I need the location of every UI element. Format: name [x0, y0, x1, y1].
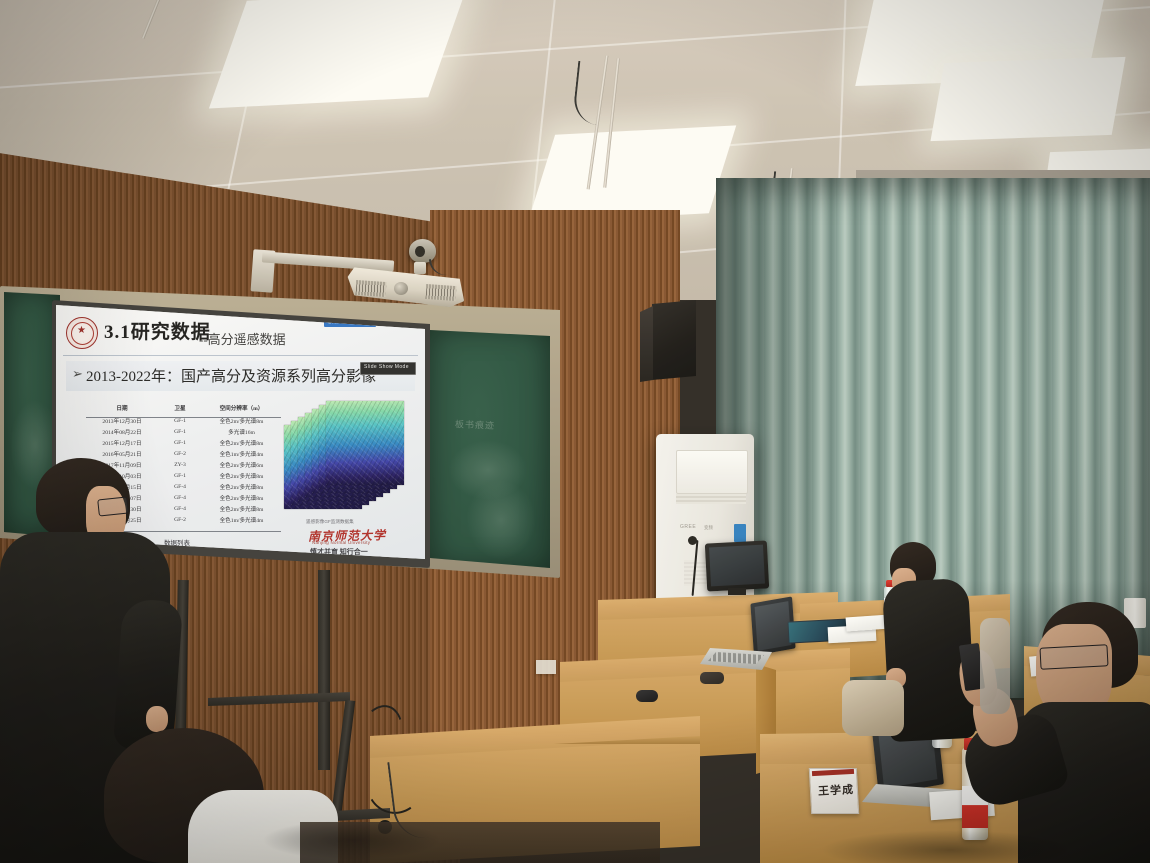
- table-row: 2014年08月22日 GF-1 多光谱16m: [86, 426, 281, 437]
- table-cell-resolution: 多光谱16m: [202, 426, 281, 437]
- attendee-right-glasses: [1039, 644, 1108, 670]
- table-cell-satellite: GF-2: [158, 514, 202, 525]
- cube-layer-front: [326, 401, 404, 485]
- table-cell-satellite: GF-4: [158, 481, 202, 492]
- table-cell-resolution: 全色2m/多光谱8m: [202, 415, 281, 426]
- projector-lens-icon: [394, 282, 408, 295]
- slide-header-rule: [63, 355, 417, 356]
- table-row: 2017年11月09日 ZY-3 全色2m/多光谱6m: [86, 459, 281, 470]
- slideshow-mode-badge-label: Slide Show Mode: [364, 364, 409, 370]
- table-header-cell: 日期: [86, 401, 158, 415]
- table-cell-satellite: GF-1: [158, 437, 202, 448]
- presenter-hand: [146, 706, 168, 732]
- table-cell-resolution: 全色2m/多光谱8m: [202, 492, 281, 503]
- university-seal-icon: ★: [66, 317, 98, 349]
- data-cube-figure: [284, 397, 404, 515]
- headphones-center: [700, 672, 724, 684]
- table-cell-date: 2015年12月17日: [86, 437, 158, 448]
- table-cell-resolution: 全色2m/多光谱8m: [202, 437, 281, 448]
- mouse-device[interactable]: [636, 690, 658, 702]
- slide-bullet-marker: ➢: [72, 366, 83, 382]
- camera-lens-icon: [415, 246, 425, 257]
- table-cell-satellite: GF-4: [158, 492, 202, 503]
- ceiling-light-4: [930, 57, 1125, 141]
- table-row: 2013年12月30日 GF-1 全色2m/多光谱8m: [86, 415, 281, 426]
- table-cell-date: 2014年08月22日: [86, 426, 158, 437]
- table-cell-resolution: 全色2m/多光谱8m: [202, 470, 281, 481]
- table-cell-satellite: GF-1: [158, 415, 202, 426]
- light-rod-head-1: [148, 28, 160, 44]
- presenter-glasses: [97, 496, 129, 516]
- laptop-center-screen[interactable]: [755, 601, 792, 651]
- slide-title: 3.1研究数据: [104, 317, 211, 344]
- table-row: 2016年05月21日 GF-2 全色1m/多光谱4m: [86, 448, 281, 459]
- table-cell-date: 2013年12月30日: [86, 415, 158, 426]
- projector-vent-left: [356, 280, 387, 297]
- table-cell-satellite: ZY-3: [158, 459, 202, 470]
- table-cell-satellite: GF-2: [158, 448, 202, 459]
- ceiling-light-2: [528, 125, 737, 222]
- light-rod-head-2: [592, 112, 602, 125]
- table-cell-resolution: 全色2m/多光谱6m: [202, 459, 281, 470]
- seal-star-icon: ★: [77, 325, 86, 336]
- figure-caption: 遥感影像GF监测数据集: [306, 519, 354, 525]
- table-header-cell: 空间分辨率（m）: [202, 401, 281, 415]
- classroom-photo: 板书痕迹 ★ 3.1研究数据 --高分遥感数据 放映工具栏 ➢ 2013-202…: [0, 0, 1150, 863]
- table-header-cell: 卫星: [158, 401, 202, 415]
- table-row: 2015年12月17日 GF-1 全色2m/多光谱8m: [86, 437, 281, 448]
- table-cell-satellite: GF-4: [158, 503, 202, 514]
- ac-grill: [676, 494, 746, 504]
- monitor-stand: [728, 588, 746, 595]
- placard-name-text: 王学成: [818, 781, 855, 799]
- speaker-side-panel: [640, 306, 653, 382]
- table-cell-date: 2016年05月21日: [86, 448, 158, 459]
- monitor-screen[interactable]: [709, 545, 765, 587]
- microphone-head-icon: [688, 536, 697, 545]
- table-cell-satellite: GF-1: [158, 470, 202, 481]
- ac-model-label: 变频: [704, 525, 713, 531]
- projector-vent-right: [426, 284, 457, 301]
- slide-bullet-text: 2013-2022年：国产高分及资源系列高分影像: [86, 365, 376, 386]
- table-cell-resolution: 全色2m/多光谱8m: [202, 481, 281, 492]
- wall-outlet[interactable]: [536, 660, 556, 674]
- table-cell-resolution: 全色1m/多光谱4m: [202, 448, 281, 459]
- chalkboard-note: 板书痕迹: [455, 417, 495, 431]
- desk-shadow-right: [820, 830, 1080, 863]
- table-cell-resolution: 全色2m/多光谱8m: [202, 503, 281, 514]
- table-header-row: 日期 卫星 空间分辨率（m）: [86, 401, 281, 415]
- chalk-smudge-2: [466, 480, 536, 560]
- slide-title-suffix: --高分遥感数据: [199, 329, 286, 348]
- ceiling-light-1: [209, 0, 466, 109]
- table-cell-resolution: 全色1m/多光谱4m: [202, 514, 281, 525]
- camera-mount: [414, 262, 426, 274]
- cart-post-right: [318, 570, 330, 770]
- ac-mode-badge: [734, 524, 746, 542]
- university-logo-en: Nanjing Normal University: [312, 540, 370, 545]
- ac-brand-label: GREE: [680, 524, 696, 530]
- ac-upper-panel: [676, 450, 748, 494]
- attendee-back-right-bag: [842, 680, 904, 736]
- table-cell-satellite: GF-1: [158, 426, 202, 437]
- wall-speaker: [652, 300, 696, 380]
- chair-back: [980, 618, 1010, 714]
- cart-shadow: [262, 820, 442, 860]
